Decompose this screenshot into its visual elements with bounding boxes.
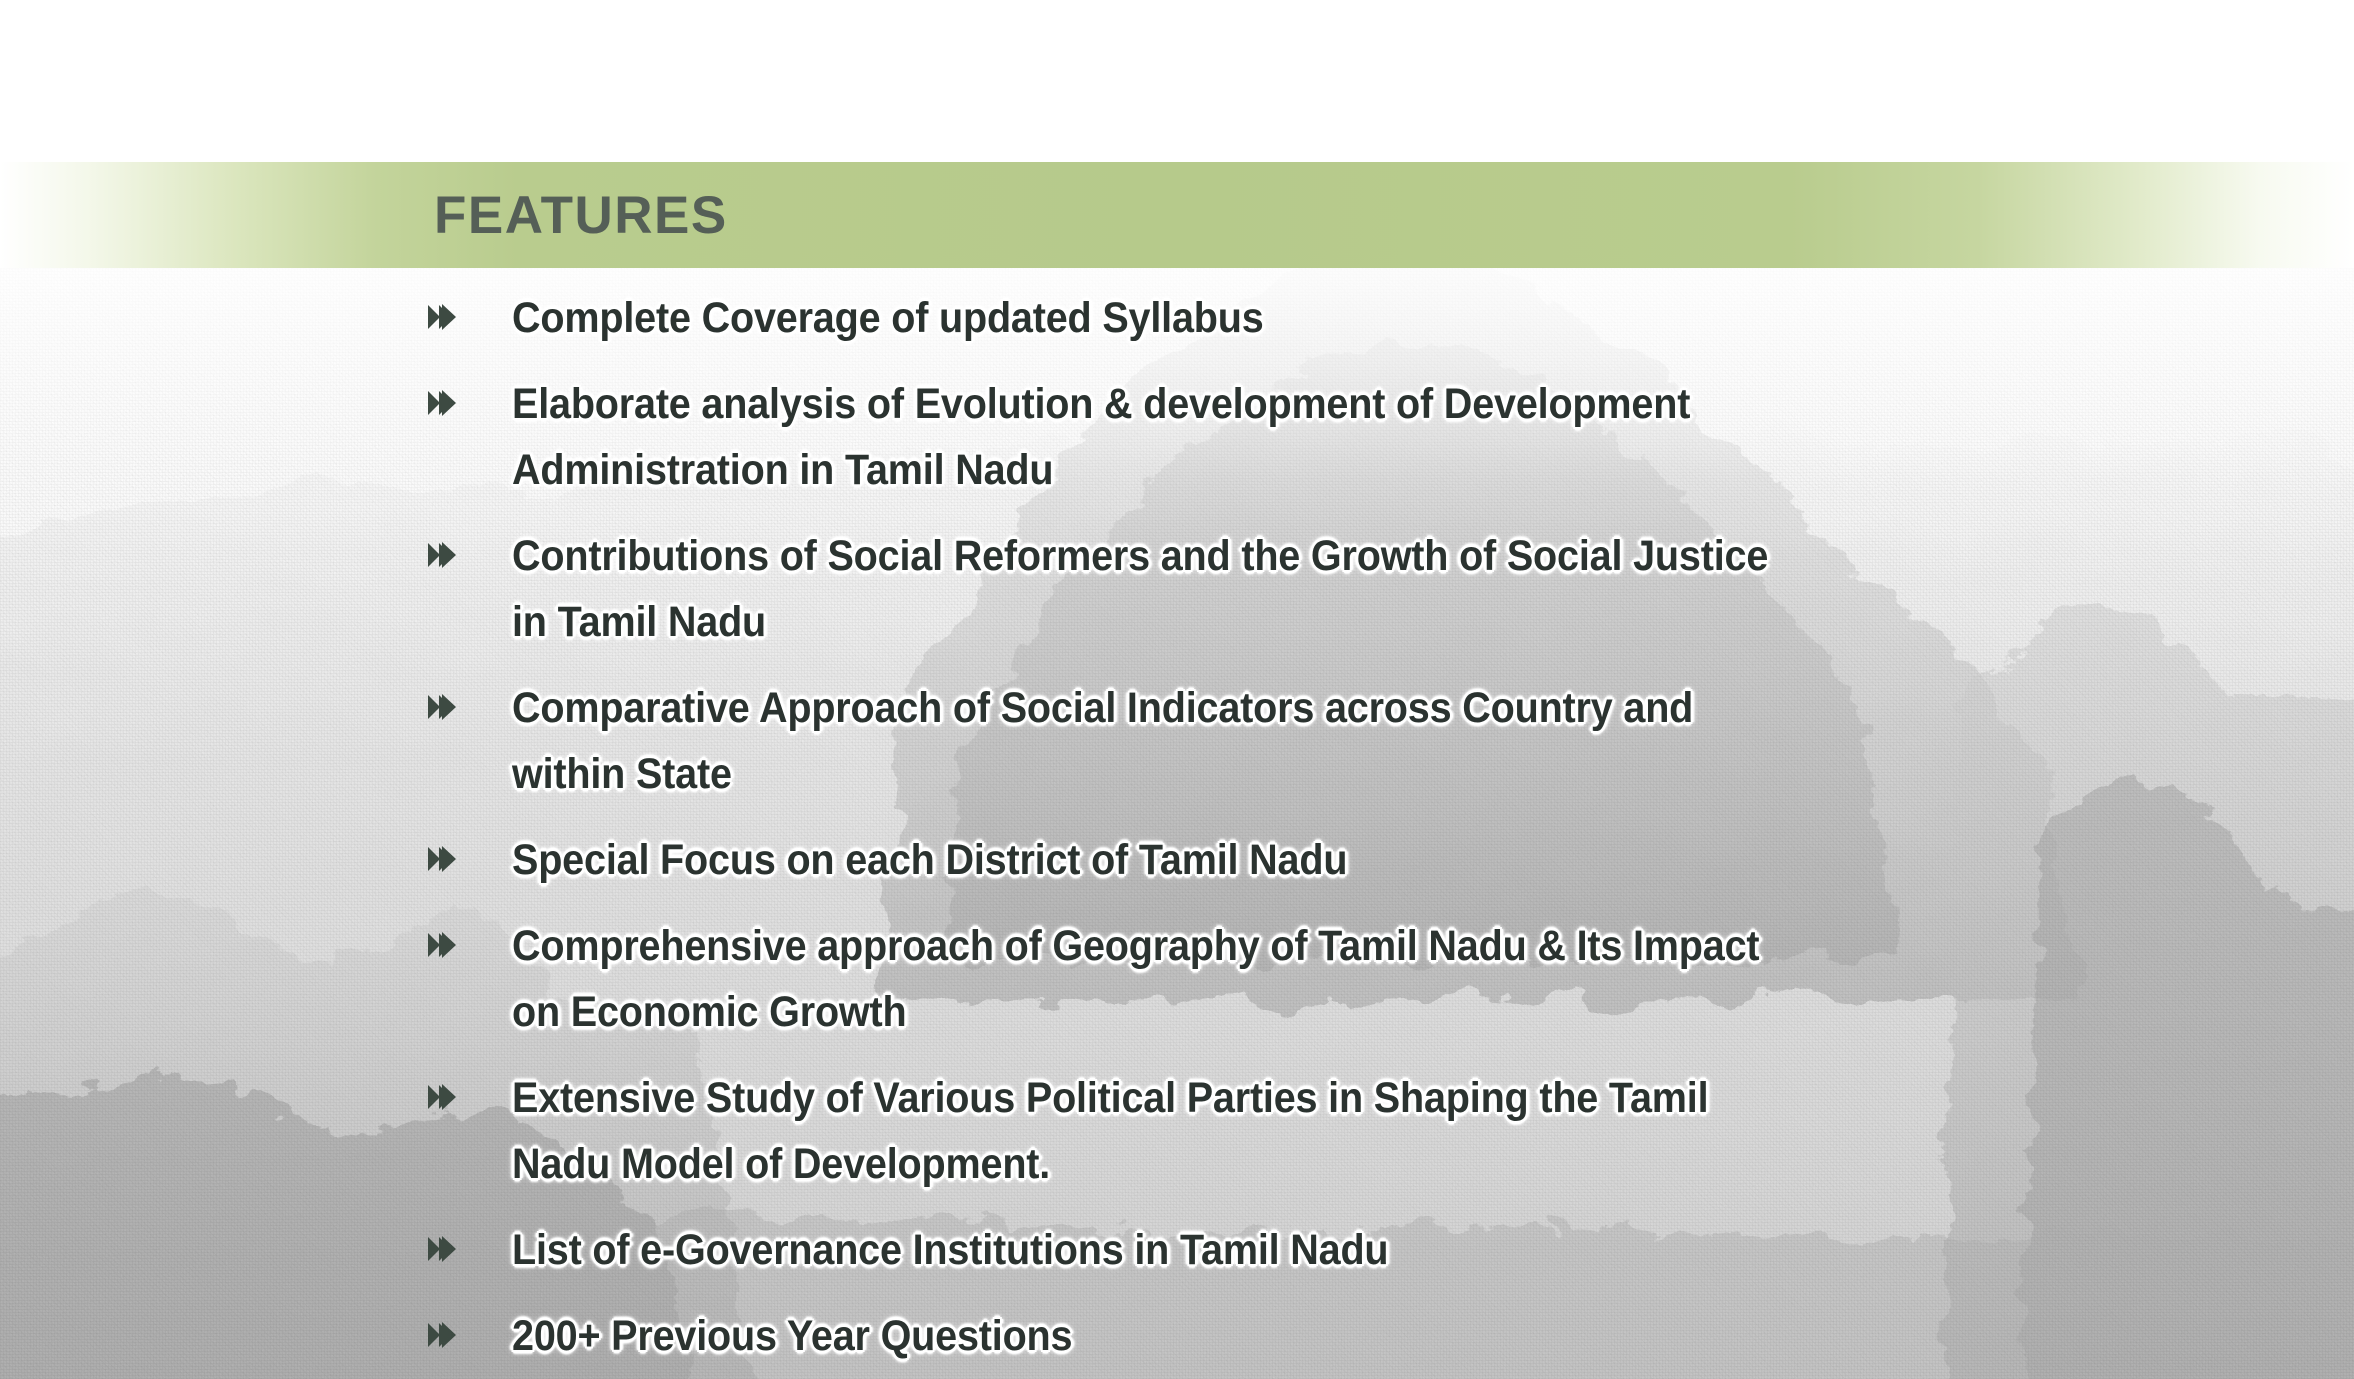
page-title: FEATURES <box>434 189 728 242</box>
double-chevron-right-icon <box>426 1077 466 1117</box>
feature-text: 200+ Previous Year Questions <box>512 1303 1786 1369</box>
list-item: 200+ Previous Year Questions <box>0 1303 2354 1369</box>
list-item: Comparative Approach of Social Indicator… <box>0 675 2354 807</box>
double-chevron-right-icon <box>426 383 466 423</box>
feature-text: Elaborate analysis of Evolution & develo… <box>512 371 1786 503</box>
list-item: Contributions of Social Reformers and th… <box>0 523 2354 655</box>
list-item: Elaborate analysis of Evolution & develo… <box>0 371 2354 503</box>
list-item: List of e-Governance Institutions in Tam… <box>0 1217 2354 1283</box>
list-item: Special Focus on each District of Tamil … <box>0 827 2354 893</box>
feature-text: Special Focus on each District of Tamil … <box>512 827 1786 893</box>
double-chevron-right-icon <box>426 1315 466 1355</box>
list-item: Comprehensive approach of Geography of T… <box>0 913 2354 1045</box>
double-chevron-right-icon <box>426 687 466 727</box>
double-chevron-right-icon <box>426 1229 466 1269</box>
feature-text: Comprehensive approach of Geography of T… <box>512 913 1786 1045</box>
list-item: Complete Coverage of updated Syllabus <box>0 285 2354 351</box>
features-header-band: FEATURES <box>0 162 2354 268</box>
feature-text: Comparative Approach of Social Indicator… <box>512 675 1786 807</box>
feature-text: List of e-Governance Institutions in Tam… <box>512 1217 1786 1283</box>
feature-text: Complete Coverage of updated Syllabus <box>512 285 1786 351</box>
features-list: Complete Coverage of updated Syllabus El… <box>0 285 2354 1379</box>
feature-text: Extensive Study of Various Political Par… <box>512 1065 1786 1197</box>
features-page: FEATURES Complete Coverage of updated Sy… <box>0 0 2354 1379</box>
double-chevron-right-icon <box>426 839 466 879</box>
list-item: Extensive Study of Various Political Par… <box>0 1065 2354 1197</box>
double-chevron-right-icon <box>426 925 466 965</box>
feature-text: Contributions of Social Reformers and th… <box>512 523 1786 655</box>
double-chevron-right-icon <box>426 535 466 575</box>
double-chevron-right-icon <box>426 297 466 337</box>
features-band-gradient <box>0 162 2354 268</box>
